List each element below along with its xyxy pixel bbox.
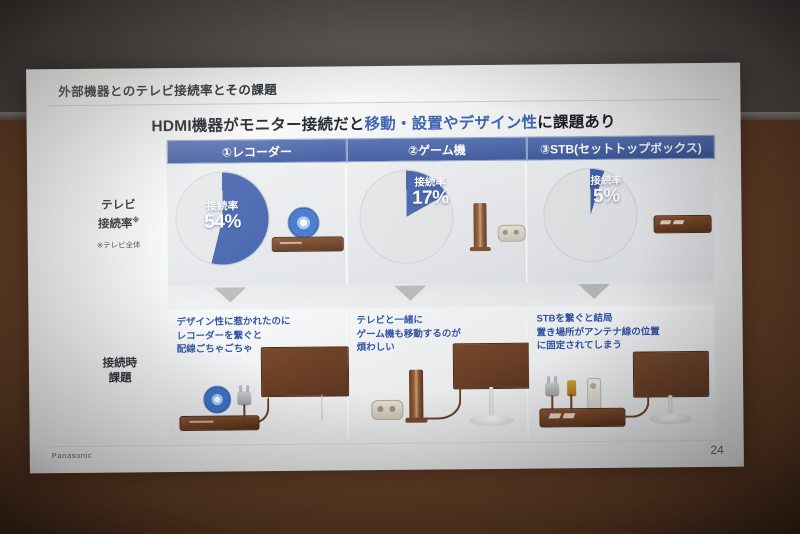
- game-console-icon: [409, 370, 423, 420]
- down-arrow-icon-2: [394, 286, 426, 301]
- cell-rate-game-console: 接続率 17%: [347, 161, 527, 285]
- game-console-base: [470, 247, 491, 251]
- disc-icon: [203, 385, 231, 413]
- headline-highlight: 移動・設置やデザイン性: [364, 115, 537, 134]
- power-plug-icon: [545, 382, 559, 396]
- connection-cable: [423, 387, 461, 419]
- plug-pin-right: [246, 385, 249, 392]
- stb-stripe-2: [673, 220, 685, 224]
- page-title: 外部機器とのテレビ接続率とその課題: [58, 79, 277, 100]
- row-label-issues-line2: 課題: [108, 372, 131, 384]
- row-label-line1: テレビ: [101, 199, 136, 211]
- game-controller-icon: [498, 225, 526, 242]
- game-console-icon: [473, 203, 486, 249]
- title-divider: [48, 99, 720, 106]
- cell-issue-stb: STBを繋ぐと結局 置き場所がアンテナ線の位置 に固定されてしまう: [528, 305, 715, 437]
- disc-icon: [287, 207, 319, 239]
- cell-issue-recorder: デザイン性に惹かれたのに レコーダーを繋ぐと 配線ごちゃごちゃ: [168, 308, 348, 440]
- page-number: 24: [710, 443, 723, 457]
- tv-stand-base: [469, 415, 513, 426]
- footer-divider: [48, 440, 726, 448]
- cell-issue-game-console: テレビと一緒に ゲーム機も移動するのが 煩わしい: [348, 307, 528, 439]
- down-arrow-icon-3: [578, 284, 610, 299]
- presentation-slide: 外部機器とのテレビ接続率とその課題 HDMI機器がモニター接続だと移動・設置やデ…: [26, 63, 744, 474]
- row-label-line2: 接続率: [98, 218, 133, 230]
- headline-part1: HDMI機器がモニター接続だと: [151, 116, 364, 135]
- tv-panel-icon: [261, 346, 349, 397]
- plug-cord: [551, 395, 553, 409]
- stb-stripe-1: [660, 220, 672, 224]
- controller-stick-left: [377, 406, 383, 412]
- plug-pin-right: [554, 376, 557, 383]
- pie-label-game-console: 接続率 17%: [393, 177, 467, 209]
- projection-photo: 外部機器とのテレビ接続率とその課題 HDMI機器がモニター接続だと移動・設置やデ…: [0, 0, 800, 534]
- issue-text-stb: STBを繋ぐと結局 置き場所がアンテナ線の位置 に固定されてしまう: [536, 311, 710, 353]
- recorder-front-detail: [189, 421, 213, 423]
- antenna-cord: [570, 394, 572, 409]
- pie-percent: 5%: [569, 187, 643, 208]
- tv-wall-cable: [321, 395, 322, 421]
- plug-pin-left: [239, 385, 242, 392]
- row-label-note: ※テレビ全体: [76, 237, 162, 253]
- recorder-device-icon: [272, 236, 344, 252]
- brand-logo: Panasonic: [52, 451, 93, 460]
- remote-button: [590, 383, 596, 389]
- recorder-device-icon: [179, 415, 259, 431]
- down-arrow-icon-1: [214, 287, 246, 302]
- row-label-connection-rate: テレビ 接続率※ ※テレビ全体: [75, 198, 162, 253]
- controller-stick-right: [389, 406, 395, 412]
- controller-stick-right: [514, 230, 519, 235]
- headline: HDMI機器がモニター接続だと移動・設置やデザイン性に課題あり: [27, 109, 741, 138]
- connection-cable: [621, 391, 649, 417]
- column-header-stb: ③STB(セットトップボックス): [527, 135, 715, 161]
- cell-rate-recorder: 接続率 54%: [167, 162, 347, 286]
- pie-percent: 17%: [393, 188, 467, 209]
- column-header-game-console: ②ゲーム機: [347, 137, 527, 163]
- cell-rate-stb: 接続率 5%: [527, 159, 714, 283]
- row-label-issues: 接続時 課題: [77, 356, 163, 387]
- comparison-grid: テレビ 接続率※ ※テレビ全体 接続時 課題 ①レコーダー ②ゲーム機 ③STB…: [75, 135, 716, 441]
- tv-panel-icon: [453, 343, 531, 390]
- game-controller-icon: [371, 400, 403, 420]
- controller-stick-left: [503, 230, 508, 235]
- recorder-front-detail: [280, 242, 302, 244]
- plug-pin-left: [547, 376, 550, 383]
- row-label-issues-line1: 接続時: [103, 357, 138, 369]
- stb-stripe-2: [562, 413, 575, 418]
- pie-label-recorder: 接続率 54%: [183, 201, 261, 233]
- headline-part2: に課題あり: [537, 114, 616, 132]
- pie-percent: 54%: [183, 212, 261, 233]
- tv-stand-base: [649, 413, 691, 424]
- footnote-mark: ※: [132, 217, 139, 224]
- stb-stripe-1: [548, 413, 561, 418]
- pie-label-stb: 接続率 5%: [569, 176, 643, 208]
- column-header-recorder: ①レコーダー: [167, 138, 347, 164]
